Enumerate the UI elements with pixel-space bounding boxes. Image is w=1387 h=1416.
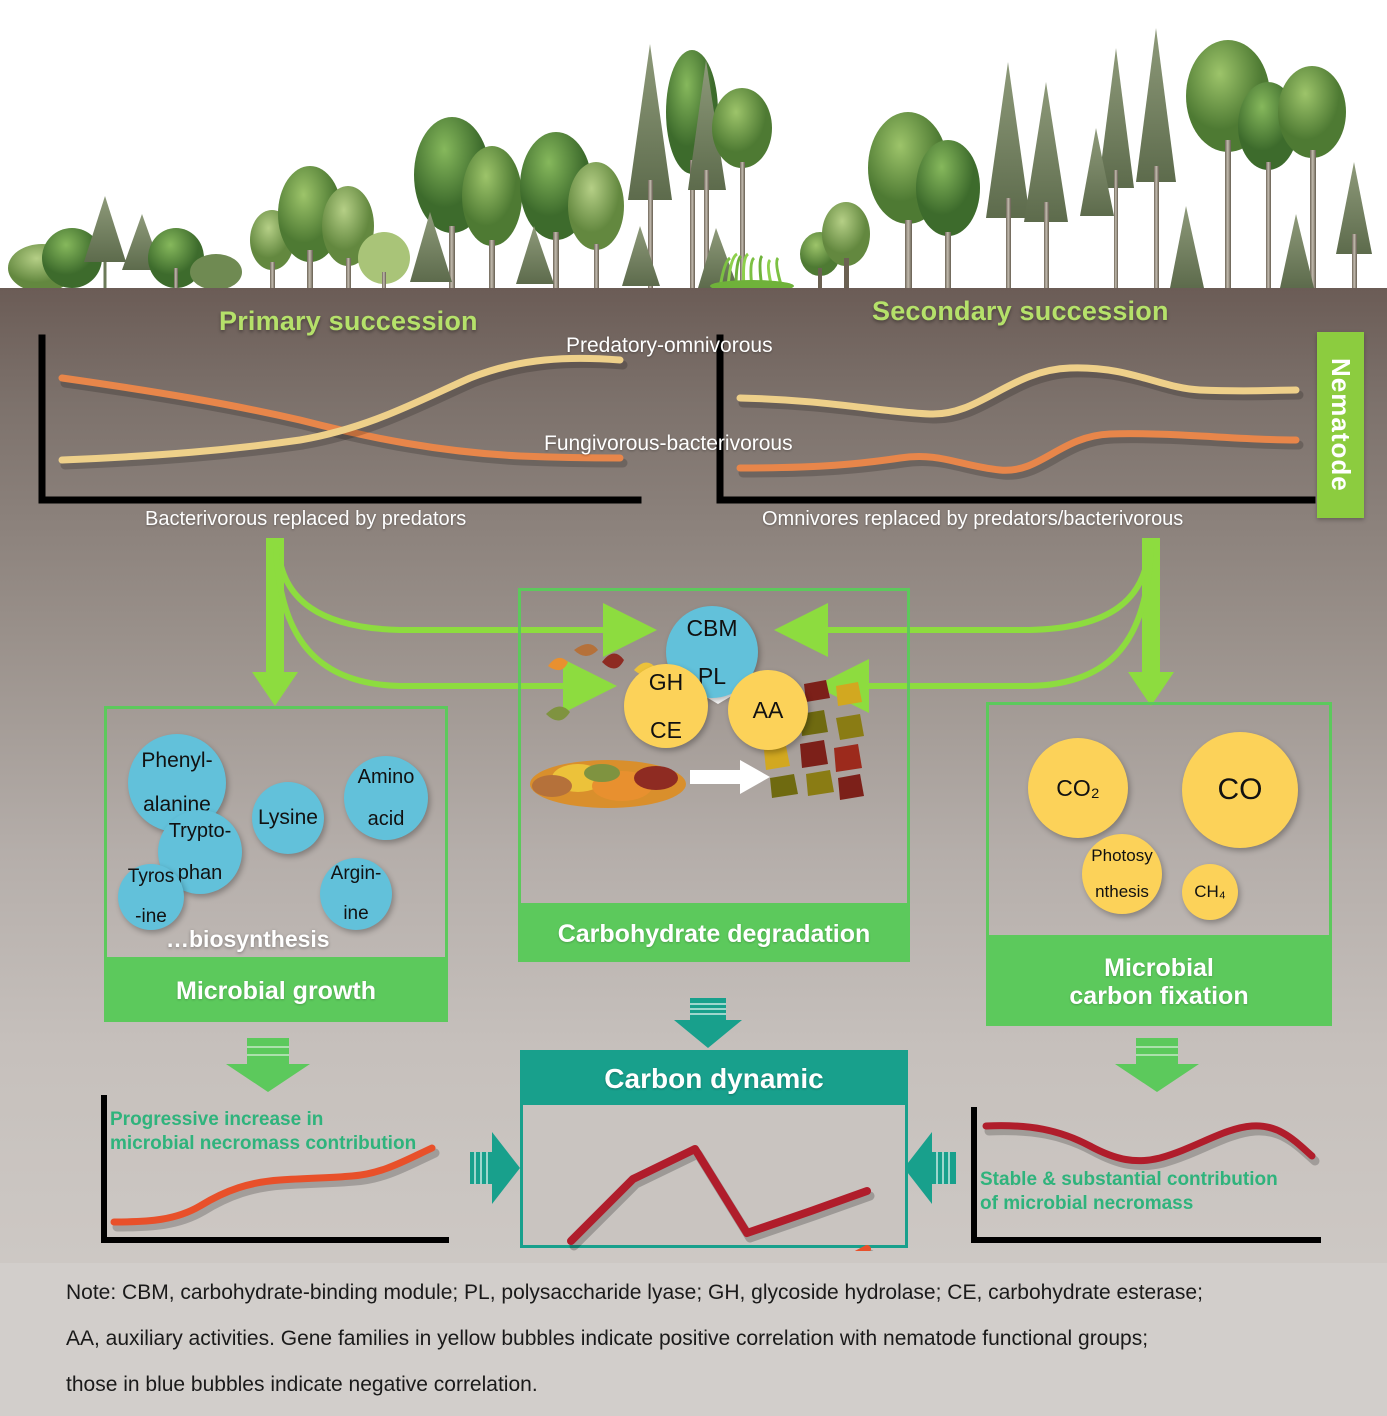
note-line-1: Note: CBM, carbohydrate-binding module; … (66, 1281, 1203, 1305)
right-chart-annotation: Stable & substantial contribution of mic… (980, 1168, 1340, 1216)
right-annotation-line2: of microbial necromass (980, 1192, 1340, 1216)
note-line-3: those in blue bubbles indicate negative … (66, 1373, 538, 1397)
note-line-2: AA, auxiliary activities. Gene families … (66, 1327, 1148, 1351)
bottom-right-chart (0, 0, 1387, 1270)
right-annotation-line1: Stable & substantial contribution (980, 1168, 1340, 1192)
figure-root: Primary succession Secondary succession … (0, 0, 1387, 1416)
